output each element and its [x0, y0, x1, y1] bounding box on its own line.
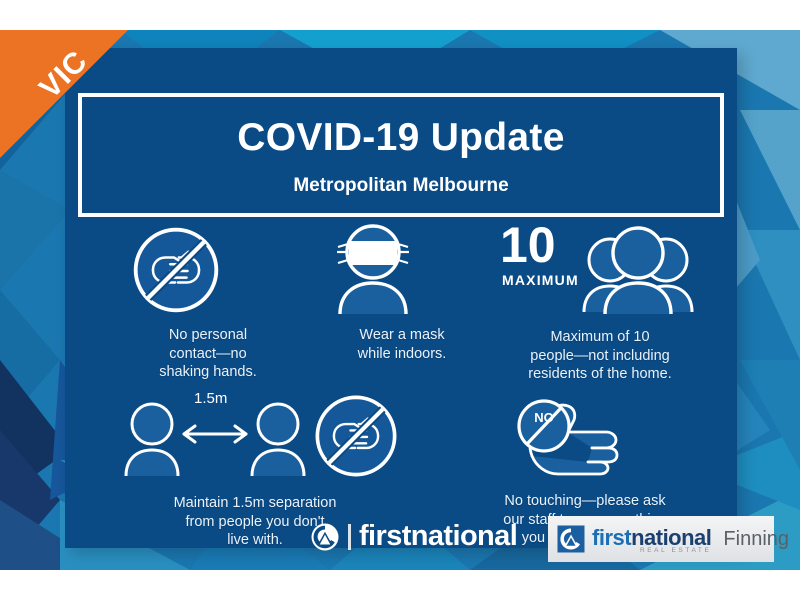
caption-line: Maintain 1.5m separation	[110, 494, 400, 513]
poster-canvas: VIC COVID-19 Update Metropolitan Melbour…	[0, 0, 800, 600]
firstnational-swirl-icon	[556, 524, 586, 554]
firstnational-logo-finning: firstnational REAL ESTATE Finning	[548, 516, 774, 562]
max-word: MAXIMUM	[502, 272, 579, 288]
group-of-people-icon: 10 MAXIMUM	[500, 222, 700, 318]
tile-caption: Maximum of 10 people—not including resid…	[500, 328, 700, 384]
tile-wear-mask: Wear a mask while indoors.	[318, 222, 486, 363]
distance-label: 1.5m	[194, 390, 227, 407]
caption-line: No touching—please ask	[460, 492, 710, 511]
logo-word-first: first	[592, 525, 631, 550]
caption-line: Maximum of 10	[500, 328, 700, 347]
poster-image: VIC COVID-19 Update Metropolitan Melbour…	[0, 30, 800, 570]
caption-line: people—not including	[500, 347, 700, 366]
no-handshake-icon	[310, 390, 402, 482]
footer-logos: firstnational firstnational REAL ESTATE	[0, 512, 800, 570]
firstnational-logo-primary: firstnational	[310, 520, 517, 553]
logo-tagline: REAL ESTATE	[640, 547, 711, 554]
logo-wordmark: firstnational	[359, 520, 517, 553]
caption-line: shaking hands.	[128, 363, 288, 382]
firstnational-swirl-icon	[310, 522, 340, 552]
caption-line: while indoors.	[318, 345, 486, 364]
no-handshake-icon	[128, 222, 288, 318]
caption-line: No personal	[128, 326, 288, 345]
face-mask-icon	[318, 222, 486, 318]
two-people-distance-icon: 1.5m	[120, 400, 310, 480]
caption-line: contact—no	[128, 345, 288, 364]
logo-divider	[348, 524, 351, 550]
page-title: COVID-19 Update	[82, 116, 720, 160]
caption-line: residents of the home.	[500, 365, 700, 384]
tile-caption: No personal contact—no shaking hands.	[128, 326, 288, 382]
caption-line: Wear a mask	[318, 326, 486, 345]
svg-text:NO: NO	[534, 410, 554, 425]
logo-office-name: Finning	[723, 528, 789, 551]
no-touching-hand-icon: NO	[460, 392, 710, 488]
tile-caption: Wear a mask while indoors.	[318, 326, 486, 363]
page-subtitle: Metropolitan Melbourne	[82, 175, 720, 197]
max-number: 10	[500, 220, 556, 270]
tile-no-handshake: No personal contact—no shaking hands.	[128, 222, 288, 382]
title-frame: COVID-19 Update Metropolitan Melbourne	[78, 93, 724, 217]
tile-max-ten: 10 MAXIMUM Maximum o	[500, 222, 700, 384]
